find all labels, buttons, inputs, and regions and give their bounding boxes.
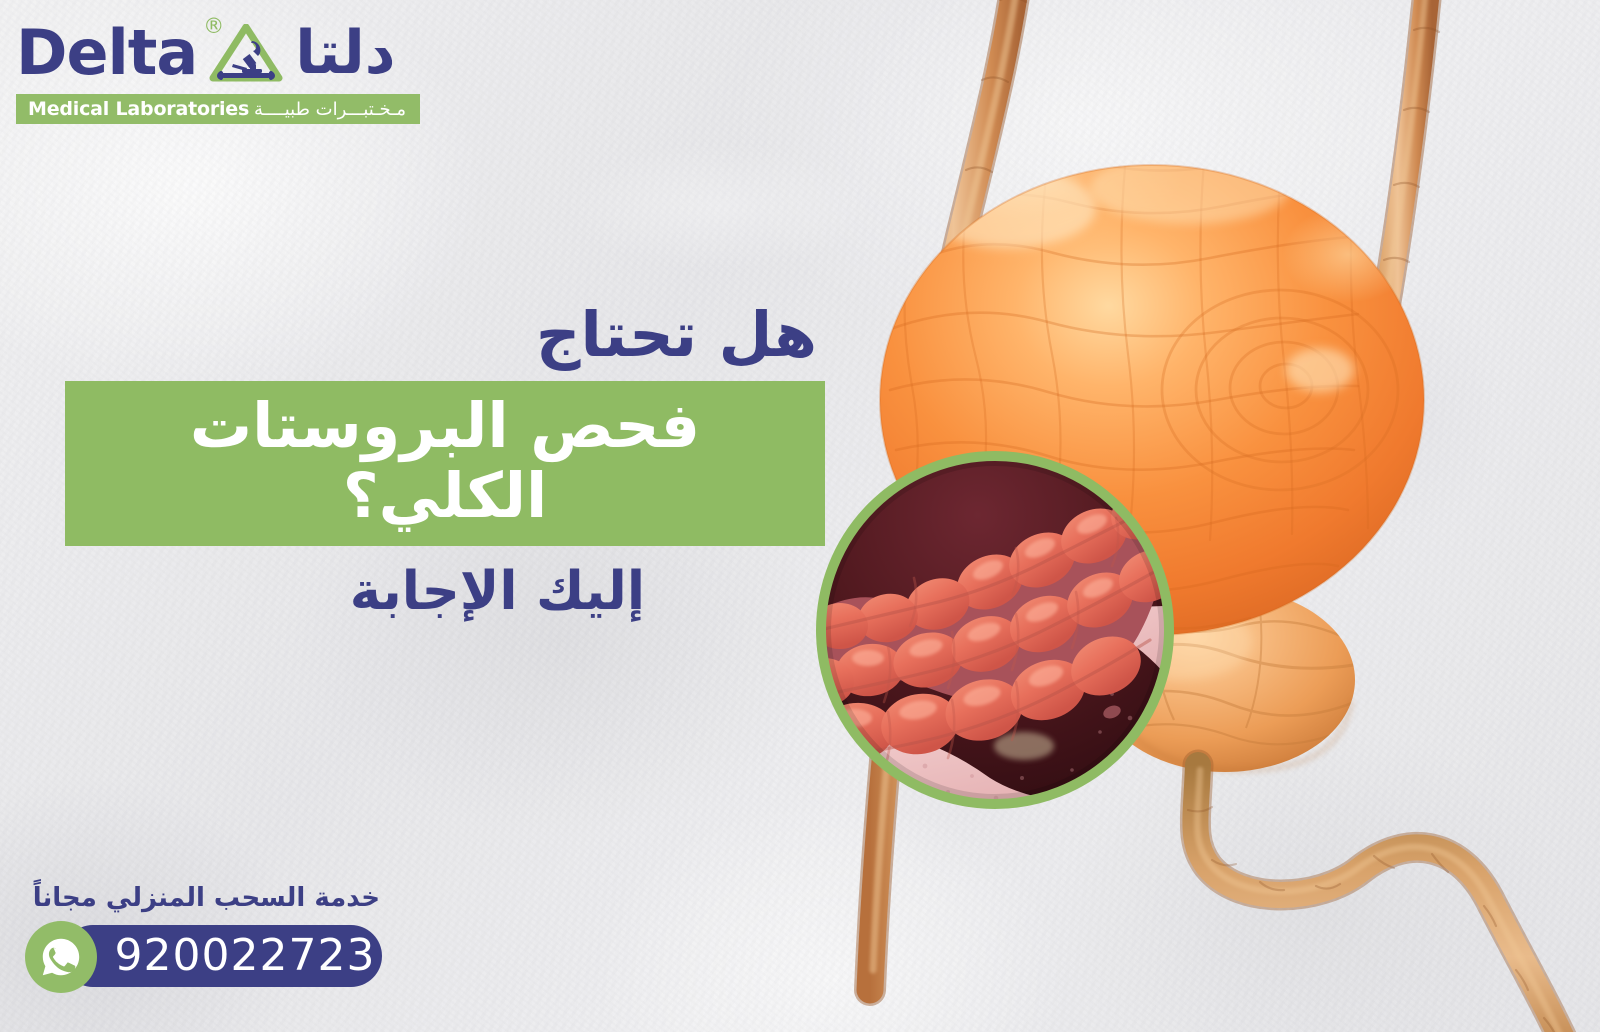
anatomy-illustration	[760, 0, 1600, 1032]
headline-line-1: هل تحتاج	[65, 300, 825, 369]
logo-delta-en: Delta	[16, 22, 197, 84]
phone-number: 920022723	[115, 934, 376, 978]
logo-tagline-bar: Medical Laboratories مـخـتبـــرات طبيـــ…	[16, 94, 420, 124]
microscope-icon: ®	[209, 20, 287, 86]
phone-row[interactable]: 920022723	[0, 921, 430, 995]
logo-tagline-ar: مـخـتبـــرات طبيــــة	[254, 99, 406, 120]
contact-block: خدمة السحب المنزلي مجاناً 920022723	[0, 884, 430, 995]
brand-logo[interactable]: Delta ® دلتا	[16, 14, 426, 124]
headline-block: هل تحتاج فحص البروستات الكلي؟ إليك الإجا…	[65, 300, 825, 622]
headline-highlight-wrap: فحص البروستات الكلي؟	[65, 369, 825, 546]
headline-line-3: إليك الإجابة	[65, 562, 825, 621]
urethra	[1188, 765, 1572, 1032]
home-service-note: خدمة السحب المنزلي مجاناً	[0, 884, 430, 913]
logo-delta-ar: دلتا	[295, 23, 395, 83]
headline-highlight-band: فحص البروستات الكلي؟	[65, 381, 825, 546]
poster-canvas: Delta ® دلتا	[0, 0, 1600, 1032]
logo-wordmark-row: Delta ® دلتا	[16, 14, 426, 92]
phone-pill[interactable]: 920022723	[62, 925, 382, 987]
whatsapp-icon[interactable]	[25, 921, 97, 993]
logo-tagline-en: Medical Laboratories	[28, 98, 249, 120]
